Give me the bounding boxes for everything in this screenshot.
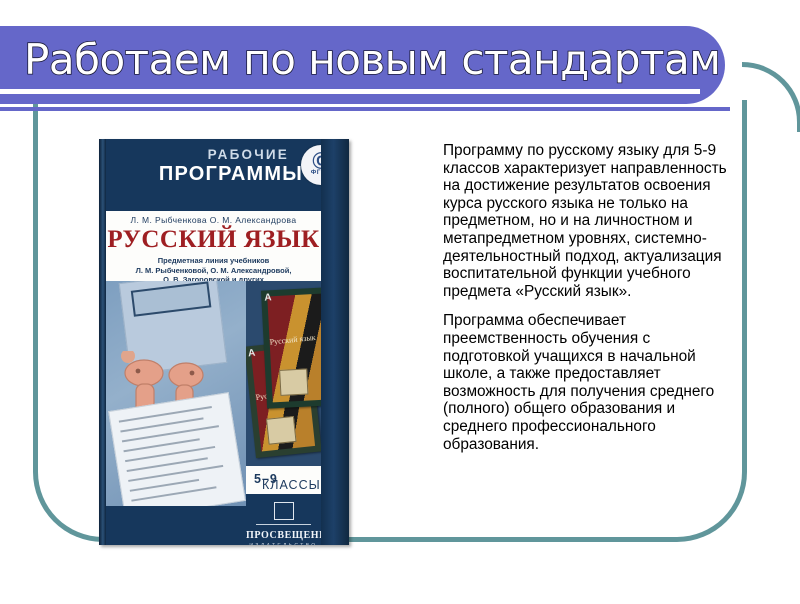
book-cover-image: РАБОЧИЕ ПРОГРАММЫ Ⓒ ФГОС Л. М. Рыбченков…: [99, 139, 349, 545]
book-grades-word: КЛАССЫ: [262, 478, 321, 492]
book-mini-covers-photo: А Русский язык А Русский язык: [246, 281, 321, 466]
mini-book-back-inset: [266, 416, 297, 445]
publisher-logo-icon: [274, 502, 294, 520]
book-vertical-spine-band: «Просвещение»: [321, 139, 349, 545]
book-subtitle-line-1: Предметная линия учебников: [106, 256, 321, 266]
publisher-subtitle: ИЗДАТЕЛЬСТВО: [246, 543, 321, 545]
illustration-handwriting-sheet: [108, 392, 246, 506]
title-banner-underline: [0, 107, 730, 111]
decorative-frame-corner: [742, 62, 800, 132]
book-series-line-1: РАБОЧИЕ: [208, 147, 289, 162]
body-paragraph-2: Программа обеспечивает преемственность о…: [443, 312, 727, 453]
book-header-zone: РАБОЧИЕ ПРОГРАММЫ Ⓒ ФГОС: [106, 139, 349, 211]
mini-book-front: А Русский язык: [261, 287, 321, 408]
book-spine-edge: [99, 139, 106, 545]
book-spine-text: «Просвещение»: [345, 314, 349, 457]
book-title-band: Л. М. Рыбченкова О. М. Александрова РУСС…: [106, 211, 321, 281]
presentation-slide: Работаем по новым стандартам РАБОЧИЕ ПРО…: [0, 0, 800, 604]
mini-book-front-inset: [279, 369, 308, 396]
publisher-divider: [256, 524, 311, 525]
book-illustration: [106, 281, 246, 506]
body-text-column: Программу по русскому языку для 5-9 клас…: [443, 142, 727, 465]
slide-title: Работаем по новым стандартам: [24, 32, 724, 94]
mini-book-front-letter: А: [264, 292, 272, 303]
book-grades: 5–9 КЛАССЫ: [254, 472, 278, 486]
mini-book-back-letter: А: [248, 348, 256, 360]
illustration-ornament: [131, 281, 212, 316]
book-main-title: РУССКИЙ ЯЗЫК: [106, 226, 321, 254]
book-cover-inner: РАБОЧИЕ ПРОГРАММЫ Ⓒ ФГОС Л. М. Рыбченков…: [106, 139, 349, 545]
book-publisher-block: ПРОСВЕЩЕНИЕ ИЗДАТЕЛЬСТВО: [246, 494, 321, 545]
book-subtitle-line-2: Л. М. Рыбченковой, О. М. Александровой,: [106, 266, 321, 276]
publisher-name: ПРОСВЕЩЕНИЕ: [246, 530, 321, 541]
body-paragraph-1: Программу по русскому языку для 5-9 клас…: [443, 142, 727, 300]
book-series-line-2: ПРОГРАММЫ: [159, 163, 303, 186]
book-grades-band: 5–9 КЛАССЫ: [246, 466, 321, 494]
book-authors: Л. М. Рыбченкова О. М. Александрова: [106, 215, 321, 225]
